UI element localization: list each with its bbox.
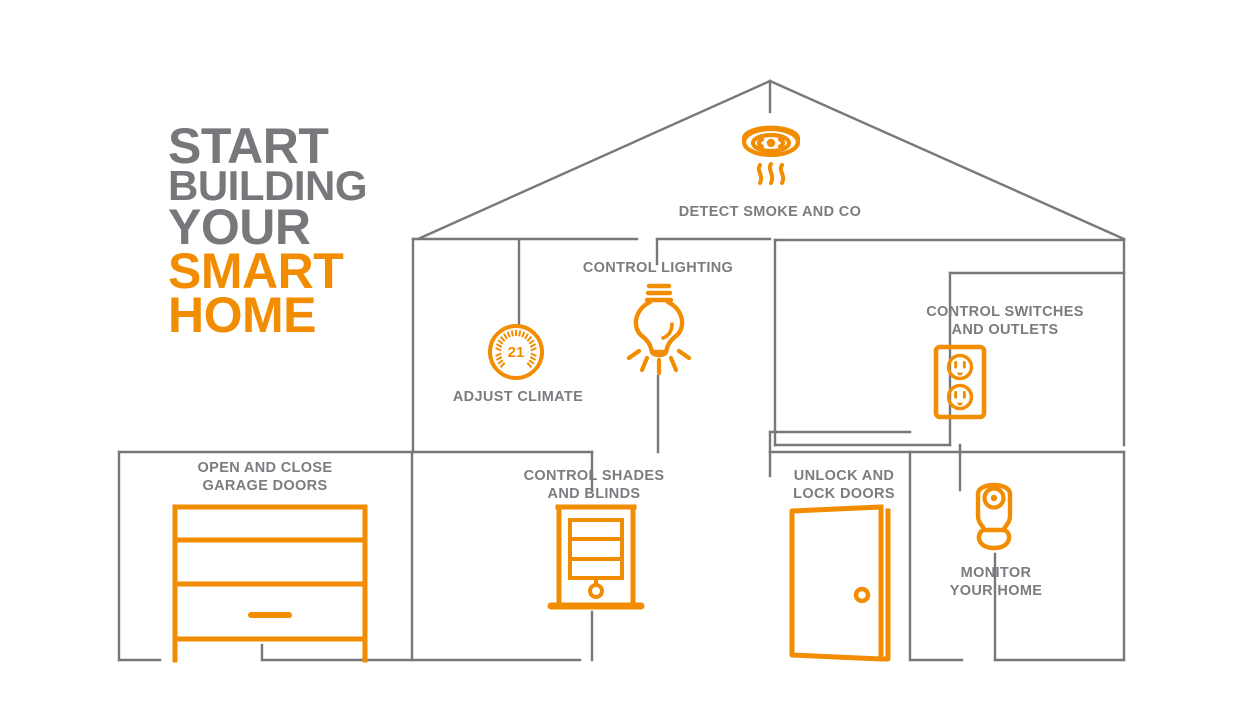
garage-door-icon [170,502,370,662]
smoke-waves [759,164,783,183]
title-line-home: HOME [168,293,488,337]
label-monitor-your-home: MONITOR YOUR HOME [916,564,1076,601]
label-garage-doors: OPEN AND CLOSE GARAGE DOORS [155,459,375,496]
smart-home-infographic: START BUILDING YOUR SMART HOME [0,0,1239,718]
outlet-socket-bottom [949,386,972,409]
open-door-icon [786,503,896,663]
label-control-switches-outlets: CONTROL SWITCHES AND OUTLETS [858,303,1152,340]
camera-lens-center [991,495,997,501]
door-knob [856,589,868,601]
label-control-shades-blinds: CONTROL SHADES AND BLINDS [498,467,690,504]
outlet-socket-top [949,356,972,379]
outlet-faceplate [936,347,984,417]
label-control-lighting: CONTROL LIGHTING [558,259,758,277]
security-camera-icon [970,476,1018,554]
smoke-detector-center-dot [767,139,775,147]
door-leaf [792,507,881,659]
label-unlock-lock-doors: UNLOCK AND LOCK DOORS [760,467,928,504]
window-blinds-icon [548,503,644,615]
smoke-detector-icon [724,113,818,201]
thermostat-dial-icon: 21 [486,322,546,382]
thermostat-temperature-value: 21 [486,322,546,382]
blind-pull-ring [590,585,602,597]
blind-slats [570,520,622,578]
label-adjust-climate: ADJUST CLIMATE [438,388,598,406]
label-detect-smoke: DETECT SMOKE AND CO [620,203,920,221]
camera-mount-base [979,530,1009,548]
light-bulb-icon [620,280,698,376]
garage-handle [248,612,292,618]
power-outlet-icon [932,344,988,420]
page-title: START BUILDING YOUR SMART HOME [168,124,488,337]
